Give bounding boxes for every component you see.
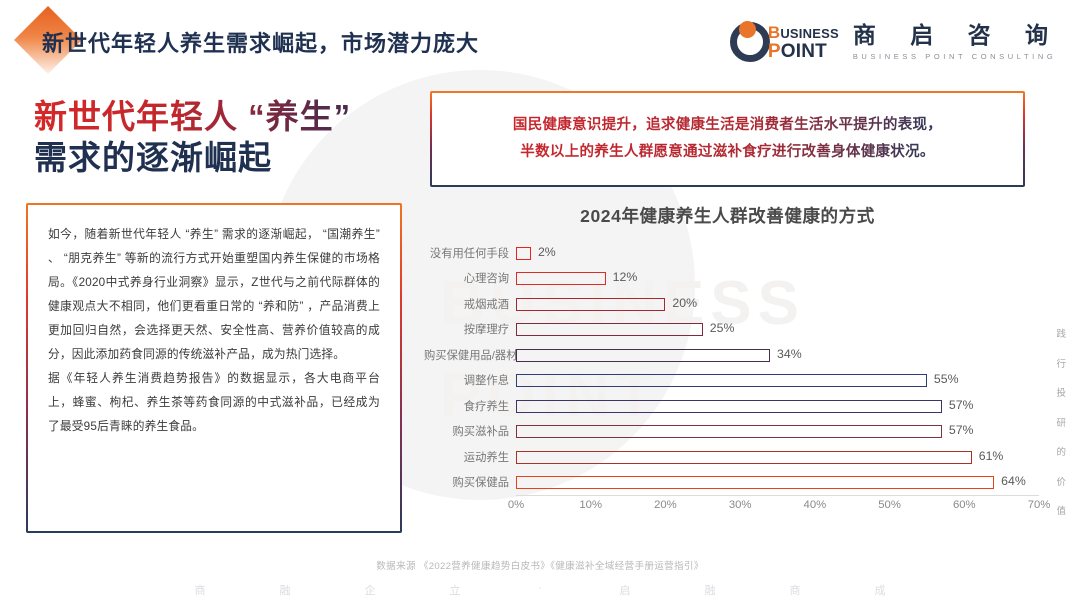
side-vertical-char: 投 [1056, 389, 1066, 399]
bar [516, 247, 531, 260]
footer-watermark: 商融企立·启融商成 [0, 582, 1080, 598]
bar [516, 323, 703, 336]
callout-line-1: 国民健康意识提升，追求健康生活是消费者生活水平提升的表现， [513, 112, 942, 139]
chart-title: 2024年健康养生人群改善健康的方式 [430, 203, 1025, 228]
bar-row: 没有用任何手段2% [424, 240, 1039, 266]
footer-watermark-char: 商 [753, 582, 838, 598]
bar-value-label: 57% [949, 398, 974, 412]
bar-track: 57% [516, 419, 1039, 445]
bar-row: 调整作息55% [424, 368, 1039, 394]
bar [516, 272, 606, 285]
bar-chart-rows: 没有用任何手段2%心理咨询12%戒烟戒酒20%按摩理疗25%购买保健用品/器材3… [424, 240, 1039, 495]
bar-track: 55% [516, 368, 1039, 394]
bar-track: 57% [516, 393, 1039, 419]
axis-tick-label: 20% [654, 499, 677, 511]
bar-row: 食疗养生57% [424, 393, 1039, 419]
callout-line-2: 半数以上的养生人群愿意通过滋补食疗进行改善身体健康状况。 [520, 139, 934, 166]
body-paragraph-2: 据《年轻人养生消费趋势报告》的数据显示，各大电商平台上，蜂蜜、枸杞、养生茶等药食… [48, 367, 380, 439]
bar-value-label: 57% [949, 423, 974, 437]
logo-point-rest: OINT [781, 41, 827, 62]
bar-category-label: 按摩理疗 [424, 321, 516, 337]
bar-category-label: 运动养生 [424, 449, 516, 465]
axis-tick-label: 10% [579, 499, 602, 511]
callout-box: 国民健康意识提升，追求健康生活是消费者生活水平提升的表现， 半数以上的养生人群愿… [430, 91, 1025, 187]
logo-p-cap: P [768, 41, 781, 62]
axis-tick-label: 40% [804, 499, 827, 511]
logo-chinese-block: 商 启 咨 询 BUSINESS POINT CONSULTING [853, 23, 1062, 61]
logo-chinese-subtitle: BUSINESS POINT CONSULTING [853, 52, 1062, 61]
footer-watermark-char: · [498, 582, 583, 598]
side-vertical-char: 值 [1056, 507, 1066, 517]
bar [516, 400, 942, 413]
bar-track: 61% [516, 444, 1039, 470]
bar-category-label: 调整作息 [424, 372, 516, 388]
logo-dot-shape [739, 21, 756, 38]
axis-tick-label: 30% [729, 499, 752, 511]
bar-value-label: 55% [934, 372, 959, 386]
page-title: 新世代年轻人养生需求崛起，市场潜力庞大 [42, 26, 479, 58]
body-text-box: 如今，随着新世代年轻人 “养生” 需求的逐渐崛起， “国潮养生” 、 “朋克养生… [26, 203, 402, 533]
footer-watermark-char: 成 [838, 582, 923, 598]
footer-watermark-char: 商 [158, 582, 243, 598]
bar [516, 451, 972, 464]
bar-value-label: 64% [1001, 474, 1026, 488]
logo-line-business: BUSINESS [768, 24, 839, 41]
logo-line-point: POINT [768, 42, 839, 61]
bar-category-label: 购买保健用品/器材 [424, 347, 516, 363]
bar-row: 戒烟戒酒20% [424, 291, 1039, 317]
footer-watermark-char: 融 [668, 582, 753, 598]
footer-watermark-char: 融 [243, 582, 328, 598]
footer-watermark-char: 立 [413, 582, 498, 598]
side-vertical-char: 践 [1056, 330, 1066, 340]
axis-tick-label: 60% [953, 499, 976, 511]
page-header: 新世代年轻人养生需求崛起，市场潜力庞大 BUSINESS POINT 商 启 咨… [0, 0, 1080, 80]
source-note: 数据来源 《2022营养健康趋势白皮书》《健康滋补全域经营手册运营指引》 [0, 558, 1080, 572]
bar-category-label: 心理咨询 [424, 270, 516, 286]
side-vertical-char: 研 [1056, 419, 1066, 429]
bar-value-label: 25% [710, 321, 735, 335]
bar-value-label: 20% [672, 296, 697, 310]
bar-value-label: 34% [777, 347, 802, 361]
bar [516, 349, 770, 362]
bar-category-label: 购买保健品 [424, 474, 516, 490]
bar [516, 425, 942, 438]
axis-tick-label: 0% [508, 499, 524, 511]
bar-category-label: 戒烟戒酒 [424, 296, 516, 312]
bar-track: 34% [516, 342, 1039, 368]
side-vertical-text: 践行投研的价值 [1056, 330, 1066, 537]
bar-category-label: 没有用任何手段 [424, 245, 516, 261]
bar-row: 心理咨询12% [424, 266, 1039, 292]
side-vertical-char: 的 [1056, 448, 1066, 458]
axis-tick-label: 70% [1028, 499, 1051, 511]
bar-category-label: 购买滋补品 [424, 423, 516, 439]
side-vertical-char: 价 [1056, 478, 1066, 488]
bar-row: 购买保健用品/器材34% [424, 342, 1039, 368]
bar-chart: 没有用任何手段2%心理咨询12%戒烟戒酒20%按摩理疗25%购买保健用品/器材3… [424, 240, 1039, 540]
logo-wordmark: BUSINESS POINT [768, 24, 839, 61]
main-headline: 新世代年轻人 “养生” 需求的逐渐崛起 [34, 96, 434, 179]
bar-row: 按摩理疗25% [424, 317, 1039, 343]
headline-line-2: 需求的逐渐崛起 [34, 137, 434, 178]
chart-x-axis-ticks: 0%10%20%30%40%50%60%70% [516, 496, 1039, 514]
bar-category-label: 食疗养生 [424, 398, 516, 414]
logo-b-cap: B [768, 23, 780, 42]
body-paragraph-1: 如今，随着新世代年轻人 “养生” 需求的逐渐崛起， “国潮养生” 、 “朋克养生… [48, 223, 380, 367]
footer-watermark-char: 企 [328, 582, 413, 598]
bar-track: 64% [516, 470, 1039, 496]
bar-track: 20% [516, 291, 1039, 317]
bar [516, 374, 927, 387]
axis-tick-label: 50% [878, 499, 901, 511]
bar [516, 298, 665, 311]
logo-business-rest: USINESS [780, 26, 838, 41]
bar-row: 运动养生61% [424, 444, 1039, 470]
side-vertical-char: 行 [1056, 360, 1066, 370]
bar-track: 25% [516, 317, 1039, 343]
headline-line-1: 新世代年轻人 “养生” [34, 96, 434, 137]
footer-watermark-char: 启 [583, 582, 668, 598]
company-logo: BUSINESS POINT 商 启 咨 询 BUSINESS POINT CO… [728, 16, 1062, 68]
bar-value-label: 2% [538, 245, 556, 259]
bar [516, 476, 994, 489]
bar-value-label: 61% [979, 449, 1004, 463]
logo-chinese-name: 商 启 咨 询 [853, 23, 1062, 48]
bar-row: 购买保健品64% [424, 470, 1039, 496]
bar-row: 购买滋补品57% [424, 419, 1039, 445]
bar-track: 12% [516, 266, 1039, 292]
bar-value-label: 12% [613, 270, 638, 284]
bar-track: 2% [516, 240, 1039, 266]
